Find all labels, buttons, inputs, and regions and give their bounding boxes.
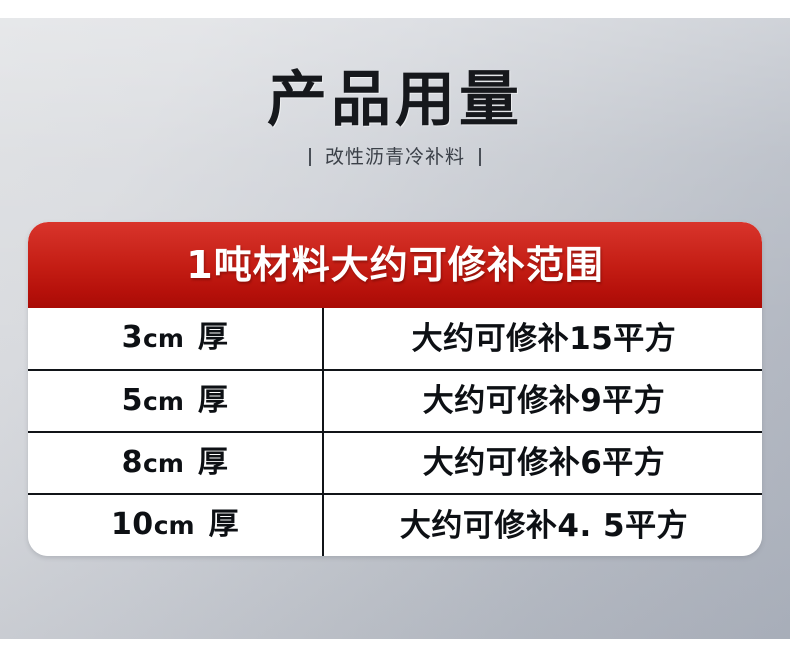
thickness-number: 8 <box>122 445 143 480</box>
vertical-bar-right-icon <box>479 148 481 166</box>
table-cell-thickness: 3cm厚 <box>28 308 323 370</box>
thickness-unit: cm <box>154 511 195 540</box>
table-cell-thickness: 5cm厚 <box>28 370 323 432</box>
table-cell-coverage: 大约可修补15平方 <box>323 308 762 370</box>
thickness-unit: cm <box>143 324 184 353</box>
table-row: 5cm厚 大约可修补9平方 <box>28 370 762 432</box>
coverage-label: 大约可修补15平方 <box>412 321 677 357</box>
thickness-unit: cm <box>143 449 184 478</box>
thickness-suffix: 厚 <box>198 445 229 480</box>
table-cell-coverage: 大约可修补4. 5平方 <box>323 494 762 556</box>
thickness-label: 3cm厚 <box>122 320 229 355</box>
usage-table: 3cm厚 大约可修补15平方 5cm厚 大约可修补9平方 <box>28 308 762 556</box>
coverage-label: 大约可修补9平方 <box>423 383 666 419</box>
thickness-label: 8cm厚 <box>122 445 229 480</box>
table-cell-thickness: 10cm厚 <box>28 494 323 556</box>
banner-title: 1吨材料大约可修补范围 <box>186 243 603 287</box>
header-section: 产品用量 改性沥青冷补料 <box>0 18 790 168</box>
subtitle-row: 改性沥青冷补料 <box>0 146 790 168</box>
page-root: 产品用量 改性沥青冷补料 1吨材料大约可修补范围 3cm厚 大约可修补15平方 <box>0 0 790 651</box>
page-title: 产品用量 <box>0 18 790 134</box>
coverage-label: 大约可修补6平方 <box>423 445 666 481</box>
page-subtitle: 改性沥青冷补料 <box>325 146 465 168</box>
table-row: 10cm厚 大约可修补4. 5平方 <box>28 494 762 556</box>
vertical-bar-left-icon <box>309 148 311 166</box>
coverage-label: 大约可修补4. 5平方 <box>400 508 688 544</box>
thickness-number: 5 <box>122 383 143 418</box>
table-cell-thickness: 8cm厚 <box>28 432 323 494</box>
table-cell-coverage: 大约可修补9平方 <box>323 370 762 432</box>
thickness-suffix: 厚 <box>198 320 229 355</box>
thickness-number: 3 <box>122 320 143 355</box>
card-banner: 1吨材料大约可修补范围 <box>28 222 762 308</box>
thickness-label: 10cm厚 <box>111 507 239 542</box>
table-cell-coverage: 大约可修补6平方 <box>323 432 762 494</box>
table-row: 8cm厚 大约可修补6平方 <box>28 432 762 494</box>
table-row: 3cm厚 大约可修补15平方 <box>28 308 762 370</box>
thickness-suffix: 厚 <box>198 383 229 418</box>
thickness-label: 5cm厚 <box>122 383 229 418</box>
usage-card: 1吨材料大约可修补范围 3cm厚 大约可修补15平方 5cm厚 <box>28 222 762 556</box>
thickness-unit: cm <box>143 387 184 416</box>
thickness-number: 10 <box>111 507 154 542</box>
thickness-suffix: 厚 <box>209 507 240 542</box>
